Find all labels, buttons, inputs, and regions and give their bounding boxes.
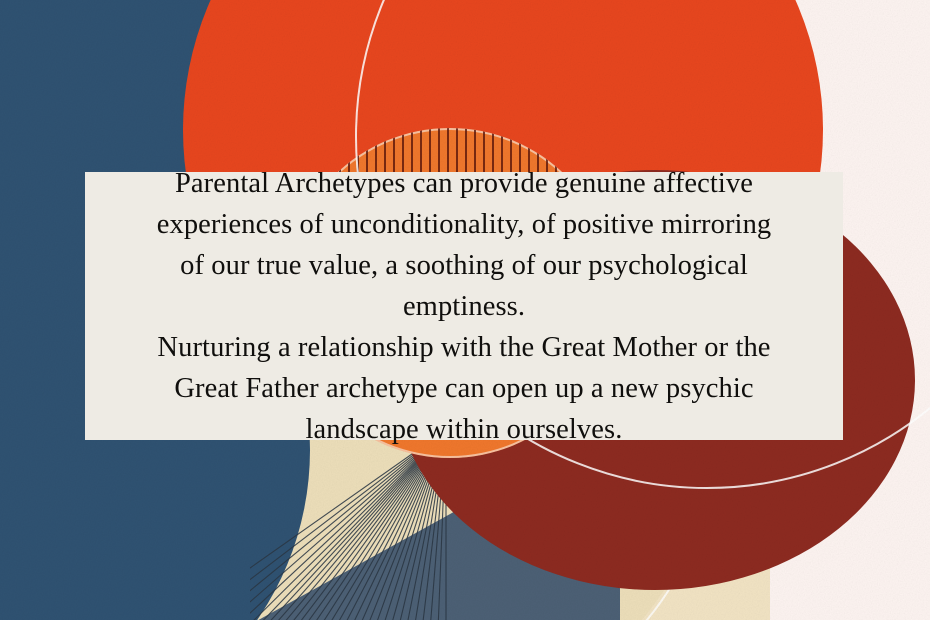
quote-line: Nurturing a relationship with the Great … — [99, 327, 829, 368]
quote-line: Great Father archetype can open up a new… — [99, 368, 829, 409]
quote-line: Parental Archetypes can provide genuine … — [99, 163, 829, 204]
quote-line: landscape within ourselves. — [99, 409, 829, 450]
wedge-slate-shape — [150, 420, 620, 620]
quote-poster: Parental Archetypes can provide genuine … — [0, 0, 930, 620]
quote-line: experiences of unconditionality, of posi… — [99, 204, 829, 245]
fan-lines-shape — [250, 430, 630, 620]
quote-line: of our true value, a soothing of our psy… — [99, 245, 829, 286]
quote-line: emptiness. — [99, 286, 829, 327]
quote-text-box: Parental Archetypes can provide genuine … — [85, 172, 843, 440]
